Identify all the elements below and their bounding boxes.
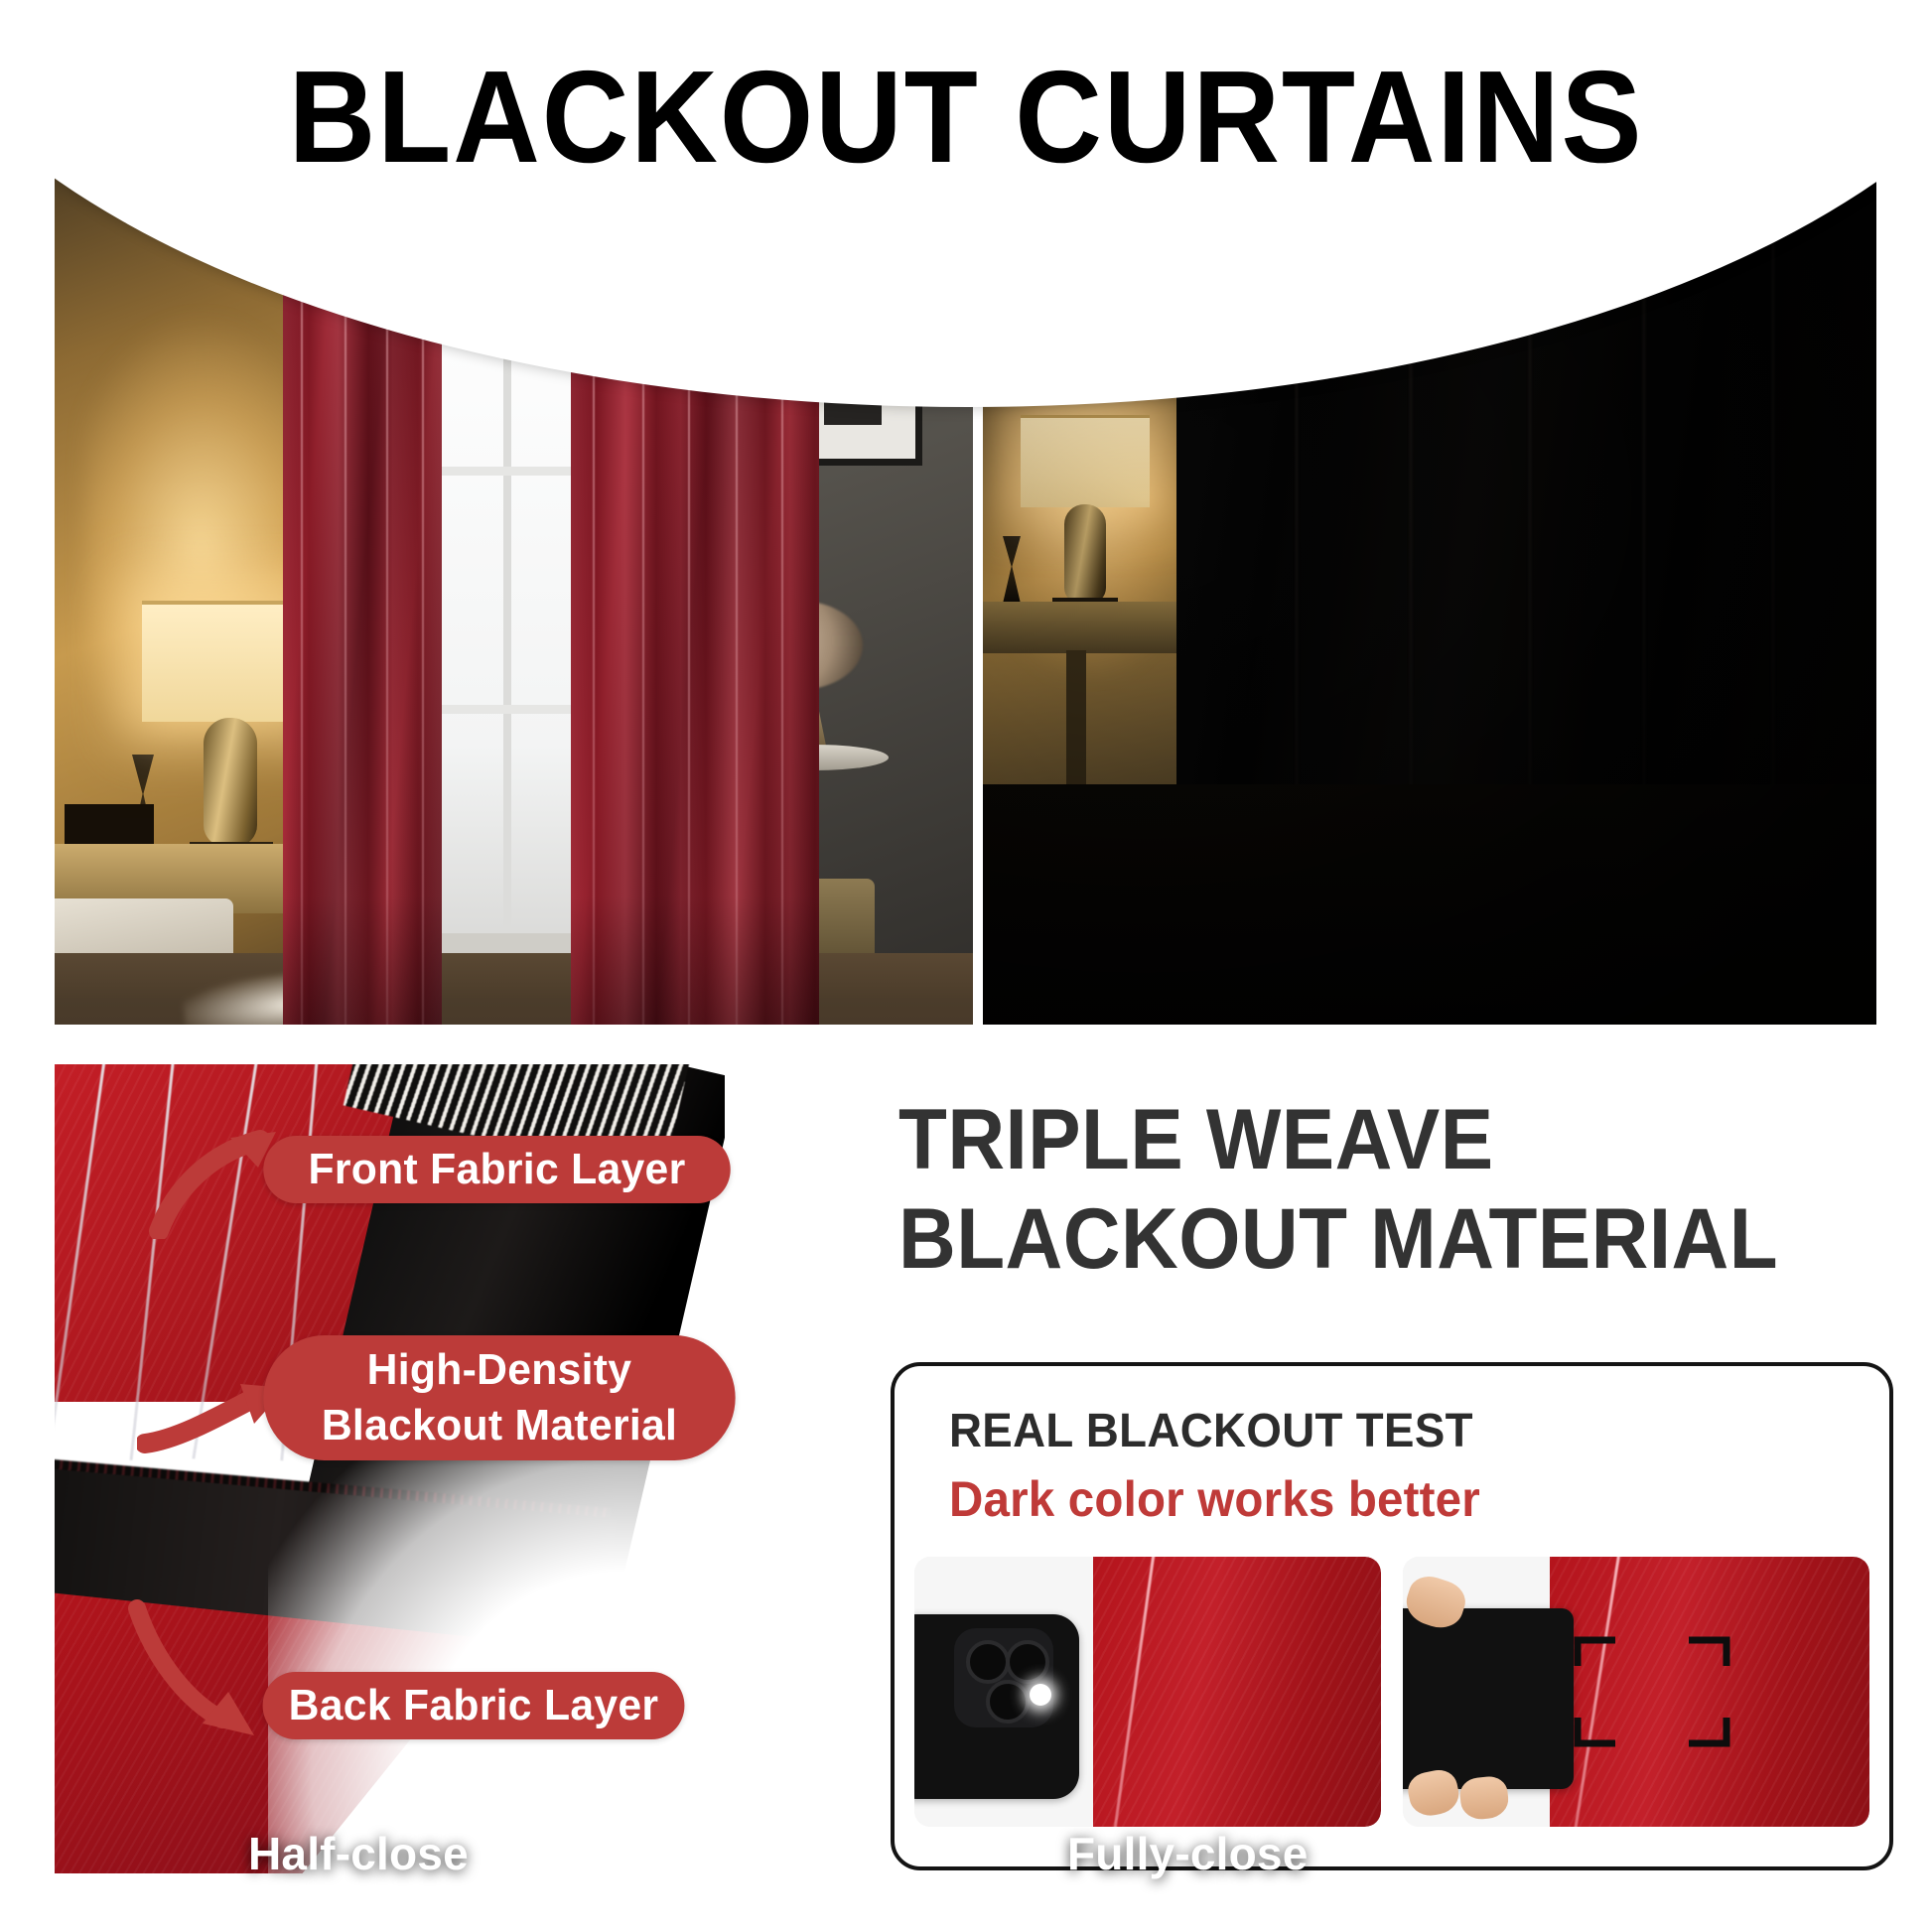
badge-front-label: Front Fabric Layer [309, 1145, 686, 1194]
test-shot-flashlight [914, 1557, 1381, 1827]
test-box-subtitle: Dark color works better [949, 1470, 1480, 1528]
flashlight-icon [1030, 1684, 1051, 1706]
table-lamp-base [204, 718, 257, 847]
test-shot-behind-fabric [1403, 1557, 1869, 1827]
table-lamp-base-dark [1064, 504, 1106, 604]
test-box-title: REAL BLACKOUT TEST [949, 1404, 1473, 1458]
real-blackout-test-box: REAL BLACKOUT TEST Dark color works bett… [891, 1362, 1893, 1870]
smartphone-held [1403, 1608, 1574, 1789]
smartphone [914, 1614, 1079, 1799]
badge-back-label: Back Fabric Layer [289, 1681, 659, 1730]
page-title: BLACKOUT CURTAINS [77, 52, 1855, 183]
arrow-down-right-icon [119, 1596, 278, 1745]
badge-high-density-blackout: High-Density Blackout Material [263, 1335, 735, 1460]
badge-back-fabric-layer: Back Fabric Layer [263, 1672, 685, 1739]
headline-line-1: TRIPLE WEAVE [898, 1092, 1494, 1187]
console-table-dark [983, 602, 1189, 653]
badge-front-fabric-layer: Front Fabric Layer [263, 1136, 730, 1203]
headline-line-2: BLACKOUT MATERIAL [898, 1189, 1831, 1289]
label-fully-close: Fully-close [1067, 1827, 1309, 1880]
badge-high-label-line2: Blackout Material [322, 1398, 677, 1453]
feature-headline: TRIPLE WEAVE BLACKOUT MATERIAL [898, 1090, 1831, 1289]
label-half-close: Half-close [248, 1827, 469, 1880]
badge-high-label-line1: High-Density [367, 1342, 632, 1398]
table-lamp-shade-dark [1021, 415, 1150, 507]
hero-comparison-photos [55, 149, 1876, 1025]
